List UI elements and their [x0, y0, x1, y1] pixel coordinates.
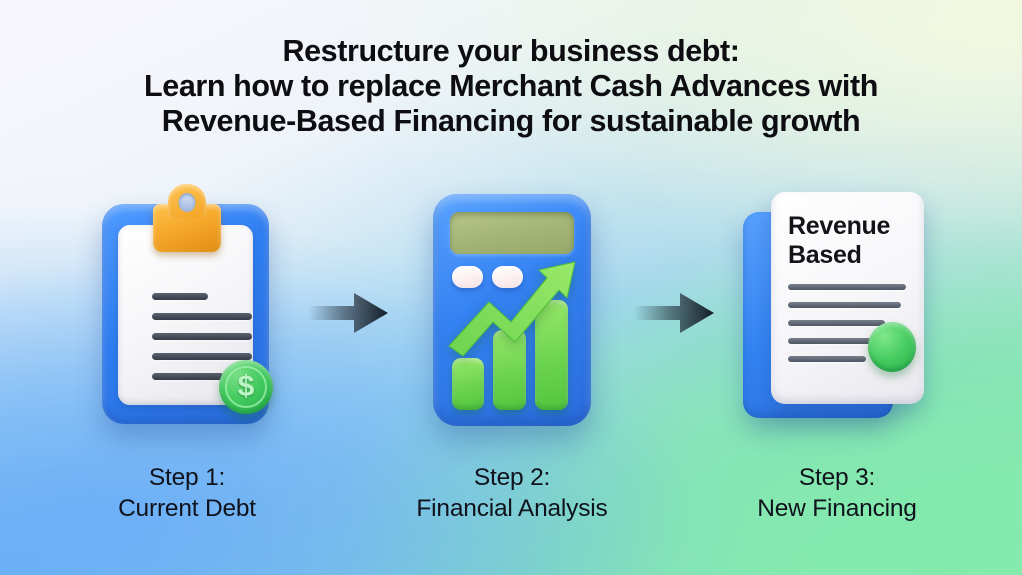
step-3-caption-line-1: Step 3:	[672, 462, 1002, 493]
clipboard-line	[152, 293, 208, 300]
clipboard-clip-hole	[179, 193, 196, 212]
chart-bar-small	[452, 358, 484, 410]
clipboard-board: $	[102, 204, 269, 424]
document-line	[788, 356, 866, 362]
step-1-caption-line-1: Step 1:	[22, 462, 352, 493]
step-2-caption: Step 2: Financial Analysis	[347, 462, 677, 524]
document-heading-line-2: Based	[788, 241, 862, 269]
document-line	[788, 320, 885, 326]
calculator-screen	[450, 212, 574, 254]
clipboard-line	[152, 313, 252, 320]
steps-row: $	[0, 186, 1022, 436]
title-line-1: Restructure your business debt:	[0, 34, 1022, 69]
document-front-sheet: Revenue Based	[771, 192, 924, 404]
title-line-3: Revenue-Based Financing for sustainable …	[0, 104, 1022, 139]
infographic-canvas: Restructure your business debt: Learn ho…	[0, 0, 1022, 575]
title-line-2: Learn how to replace Merchant Cash Advan…	[0, 69, 1022, 104]
clipboard-clip-icon	[153, 204, 221, 252]
step-3-caption-line-2: New Financing	[672, 493, 1002, 524]
step-1-graphic: $	[75, 186, 295, 436]
step-3-graphic: Revenue Based	[725, 186, 945, 436]
page-title: Restructure your business debt: Learn ho…	[0, 34, 1022, 139]
clipboard-line	[152, 333, 252, 340]
document-line	[788, 338, 873, 344]
calculator-with-growth-chart-icon	[400, 186, 620, 430]
arrow-step1-to-step2-icon	[306, 290, 390, 336]
step-2-caption-line-2: Financial Analysis	[347, 493, 677, 524]
clipboard-line	[152, 373, 224, 380]
document-heading: Revenue Based	[788, 212, 913, 270]
step-2-graphic	[400, 186, 620, 436]
step-2-caption-line-1: Step 2:	[347, 462, 677, 493]
step-1-caption: Step 1: Current Debt	[22, 462, 352, 524]
calculator-body	[433, 194, 591, 426]
step-1-caption-line-2: Current Debt	[22, 493, 352, 524]
document-heading-line-1: Revenue	[788, 212, 890, 240]
dollar-coin-icon: $	[219, 360, 273, 414]
document-line	[788, 302, 901, 308]
growth-arrow-icon	[443, 252, 585, 360]
green-approval-dot-icon	[868, 322, 916, 372]
clipboard-with-dollar-coin-icon: $	[75, 186, 295, 430]
arrow-step2-to-step3-icon	[632, 290, 716, 336]
step-3-caption: Step 3: New Financing	[672, 462, 1002, 524]
dollar-symbol: $	[238, 372, 255, 402]
clipboard-line	[152, 353, 252, 360]
document-line	[788, 284, 906, 290]
revenue-based-document-icon: Revenue Based	[725, 186, 945, 430]
